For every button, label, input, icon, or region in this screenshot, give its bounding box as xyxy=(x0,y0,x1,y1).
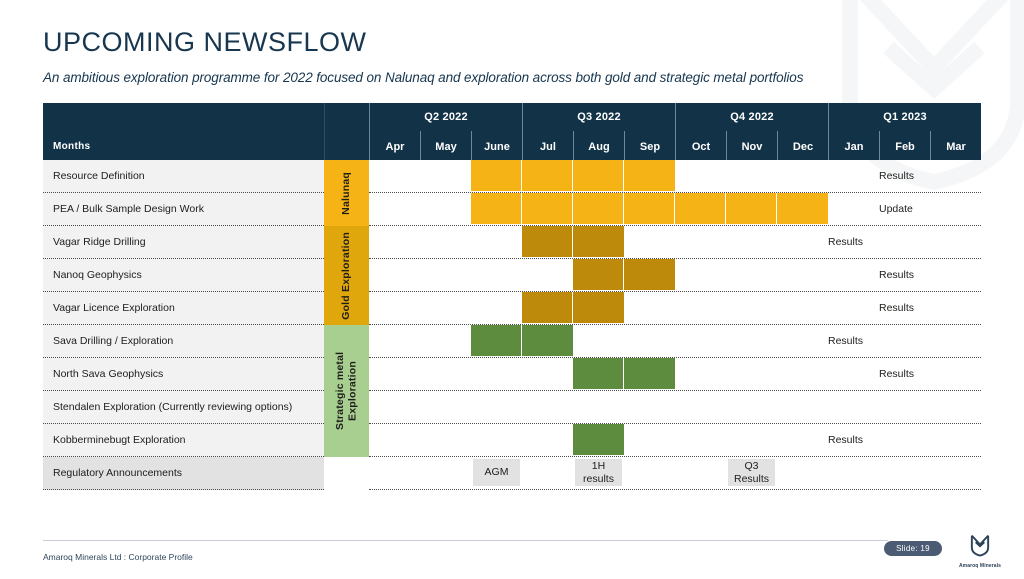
row-label: Vagar Licence Exploration xyxy=(43,292,324,325)
timeline-cell xyxy=(624,325,675,357)
row-timeline: Results xyxy=(369,424,981,457)
category-band: Strategic metal Exploration xyxy=(324,325,369,457)
slide-root: UPCOMING NEWSFLOW An ambitious explorati… xyxy=(0,0,1024,579)
month-header-cell: Aug xyxy=(573,131,624,160)
timeline-cell xyxy=(369,292,420,324)
table-row: Nanoq GeophysicsResults xyxy=(43,259,981,292)
timeline-cell xyxy=(777,160,828,192)
month-header-cell: Dec xyxy=(777,131,828,160)
timeline-cell xyxy=(777,391,828,423)
timeline-bar-segment xyxy=(573,160,624,191)
timeline-cell xyxy=(369,457,420,489)
row-timeline: Results xyxy=(369,292,981,325)
timeline-cell xyxy=(573,160,624,192)
footer-note: Amaroq Minerals Ltd : Corporate Profile xyxy=(43,552,193,562)
page-title: UPCOMING NEWSFLOW xyxy=(43,27,367,58)
timeline-cell xyxy=(420,292,471,324)
timeline-bar-segment xyxy=(471,160,522,191)
chip-line-2: Results xyxy=(734,473,769,485)
timeline-cell xyxy=(420,325,471,357)
timeline-bar-segment xyxy=(522,226,573,257)
timeline-cell: Results xyxy=(879,358,930,390)
timeline-cell xyxy=(930,292,981,324)
timeline-bar-segment xyxy=(624,193,675,224)
timeline-bar-segment xyxy=(573,424,624,455)
timeline-cell xyxy=(522,259,573,291)
timeline-cell xyxy=(726,391,777,423)
timeline-bar-segment xyxy=(522,160,573,191)
timeline-cell xyxy=(573,226,624,258)
timeline-cell xyxy=(828,292,879,324)
timeline-cell xyxy=(471,358,522,390)
timeline-bar-segment xyxy=(573,193,624,224)
timeline-cell xyxy=(930,226,981,258)
timeline-bar-segment xyxy=(522,193,573,224)
timeline-cell xyxy=(471,424,522,456)
row-label: Kobberminebugt Exploration xyxy=(43,424,324,457)
timeline-cell xyxy=(573,259,624,291)
slide-number-badge: Slide: 19 xyxy=(884,541,942,556)
timeline-cell: Results xyxy=(879,160,930,192)
table-row: Resource DefinitionResults xyxy=(43,160,981,193)
chip-line-1: AGM xyxy=(485,466,509,478)
timeline-bar-segment xyxy=(573,292,624,323)
timeline-cell xyxy=(420,358,471,390)
header-category-spacer xyxy=(324,103,369,160)
row-note: Results xyxy=(879,292,930,324)
category-band: Gold Exploration xyxy=(324,226,369,325)
timeline-cell xyxy=(624,391,675,423)
timeline-cell xyxy=(420,391,471,423)
timeline-cell xyxy=(930,457,981,489)
row-note: Results xyxy=(828,226,879,258)
timeline-cell xyxy=(930,325,981,357)
timeline-cell xyxy=(675,391,726,423)
table-row: Sava Drilling / ExplorationResults xyxy=(43,325,981,358)
month-header-cell: Feb xyxy=(879,131,930,160)
timeline-cell xyxy=(879,391,930,423)
quarter-group: Q3 2022JulAugSep xyxy=(522,103,675,160)
timeline-cell xyxy=(522,391,573,423)
category-band-label: Strategic metal Exploration xyxy=(334,325,359,457)
row-timeline: AGM1HresultsQ3Results xyxy=(369,457,981,490)
timeline-cell xyxy=(828,358,879,390)
timeline-cell xyxy=(675,160,726,192)
timeline-cell xyxy=(624,226,675,258)
timeline-cell xyxy=(777,292,828,324)
timeline-bar-segment xyxy=(522,292,573,323)
timeline-cell xyxy=(369,358,420,390)
timeline-cell xyxy=(573,358,624,390)
timeline-bar-segment xyxy=(675,193,726,224)
timeline-cell xyxy=(930,424,981,456)
timeline-cell: Q3Results xyxy=(726,457,777,489)
announcement-chip: Q3Results xyxy=(728,459,775,486)
timeline-cell xyxy=(675,193,726,225)
page-subtitle: An ambitious exploration programme for 2… xyxy=(43,70,803,85)
table-row: North Sava GeophysicsResults xyxy=(43,358,981,391)
timeline-cell xyxy=(369,193,420,225)
table-row: Stendalen Exploration (Currently reviewi… xyxy=(43,391,981,424)
timeline-cell xyxy=(420,226,471,258)
timeline-cell xyxy=(930,193,981,225)
month-header-cell: May xyxy=(420,131,471,160)
header-months-label: Months xyxy=(43,103,324,160)
timeline-cell xyxy=(675,358,726,390)
row-timeline: Results xyxy=(369,160,981,193)
timeline-cell xyxy=(369,424,420,456)
timeline-cell xyxy=(420,424,471,456)
timeline-cell xyxy=(675,325,726,357)
timeline-cell xyxy=(726,259,777,291)
timeline-cell: Results xyxy=(828,424,879,456)
timeline-cell xyxy=(726,424,777,456)
timeline-cell xyxy=(777,259,828,291)
quarter-group: Q2 2022AprMayJune xyxy=(369,103,522,160)
quarter-label: Q4 2022 xyxy=(676,103,828,131)
category-band-label: Gold Exploration xyxy=(340,232,353,320)
timeline-cell xyxy=(522,358,573,390)
timeline-cell xyxy=(777,424,828,456)
timeline-bar-segment xyxy=(522,325,573,356)
row-label: Nanoq Geophysics xyxy=(43,259,324,292)
timeline-bar-segment xyxy=(573,226,624,257)
timeline-cell: Results xyxy=(828,325,879,357)
row-note: Results xyxy=(828,424,879,456)
timeline-cell xyxy=(522,325,573,357)
row-note: Results xyxy=(879,358,930,390)
timeline-cell xyxy=(420,259,471,291)
timeline-cell xyxy=(522,193,573,225)
timeline-cell xyxy=(828,391,879,423)
table-row: Vagar Licence ExplorationResults xyxy=(43,292,981,325)
timeline-cell: Results xyxy=(828,226,879,258)
row-label: PEA / Bulk Sample Design Work xyxy=(43,193,324,226)
quarter-group: Q1 2023JanFebMar xyxy=(828,103,981,160)
header-quarters: Q2 2022AprMayJuneQ3 2022JulAugSepQ4 2022… xyxy=(369,103,981,160)
timeline-bar-segment xyxy=(624,358,675,389)
timeline-cell xyxy=(471,226,522,258)
timeline-cell xyxy=(624,292,675,324)
row-timeline xyxy=(369,391,981,424)
timeline-cell xyxy=(471,325,522,357)
timeline-cell xyxy=(777,193,828,225)
month-header-cell: June xyxy=(471,131,522,160)
timeline-cell xyxy=(828,457,879,489)
timeline-cell xyxy=(624,424,675,456)
timeline-cell xyxy=(675,259,726,291)
row-label: Stendalen Exploration (Currently reviewi… xyxy=(43,391,324,424)
timeline-cell xyxy=(726,358,777,390)
timeline-cell xyxy=(930,391,981,423)
table-header: Months Q2 2022AprMayJuneQ3 2022JulAugSep… xyxy=(43,103,981,160)
timeline-bar-segment xyxy=(471,325,522,356)
timeline-cell xyxy=(879,457,930,489)
timeline-cell xyxy=(624,160,675,192)
month-header-cell: Apr xyxy=(370,131,420,160)
timeline-cell xyxy=(777,358,828,390)
timeline-cell xyxy=(522,160,573,192)
timeline-cell xyxy=(471,160,522,192)
timeline-bar-segment xyxy=(471,193,522,224)
footer-divider xyxy=(43,540,888,541)
timeline-cell xyxy=(573,325,624,357)
announcement-chip: 1Hresults xyxy=(575,459,622,486)
announcement-chip: AGM xyxy=(473,459,520,486)
timeline-cell xyxy=(930,160,981,192)
timeline-cell: 1Hresults xyxy=(573,457,624,489)
timeline-cell xyxy=(726,160,777,192)
timeline-cell xyxy=(369,325,420,357)
category-band-label: Nalunaq xyxy=(340,172,353,215)
row-label: Vagar Ridge Drilling xyxy=(43,226,324,259)
table-row: Kobberminebugt ExplorationResults xyxy=(43,424,981,457)
timeline-bar-segment xyxy=(624,259,675,290)
quarter-months: AprMayJune xyxy=(370,131,522,160)
timeline-bar-segment xyxy=(573,358,624,389)
timeline-cell xyxy=(624,193,675,225)
timeline-cell xyxy=(573,424,624,456)
row-category-spacer xyxy=(324,457,369,490)
timeline-cell xyxy=(369,391,420,423)
chip-line-1: 1H xyxy=(592,460,605,472)
timeline-cell xyxy=(471,391,522,423)
timeline-cell xyxy=(471,259,522,291)
row-timeline: Results xyxy=(369,226,981,259)
timeline-cell xyxy=(675,292,726,324)
timeline-cell xyxy=(675,457,726,489)
timeline-bar-segment xyxy=(726,193,777,224)
footer-logo: Amaroq Minerals xyxy=(950,533,1010,569)
row-label: North Sava Geophysics xyxy=(43,358,324,391)
timeline-cell xyxy=(522,457,573,489)
table-row: Regulatory AnnouncementsAGM1HresultsQ3Re… xyxy=(43,457,981,490)
fox-logo-icon xyxy=(967,533,993,557)
quarter-months: JanFebMar xyxy=(829,131,981,160)
row-label: Sava Drilling / Exploration xyxy=(43,325,324,358)
quarter-label: Q3 2022 xyxy=(523,103,675,131)
timeline-cell xyxy=(777,325,828,357)
timeline-cell xyxy=(420,160,471,192)
row-timeline: Results xyxy=(369,259,981,292)
timeline-cell xyxy=(420,457,471,489)
chip-line-2: results xyxy=(583,473,614,485)
month-header-cell: Nov xyxy=(726,131,777,160)
timeline-cell xyxy=(522,226,573,258)
month-header-cell: Sep xyxy=(624,131,675,160)
month-header-cell: Oct xyxy=(676,131,726,160)
row-timeline: Results xyxy=(369,358,981,391)
timeline-cell xyxy=(828,160,879,192)
timeline-cell xyxy=(624,259,675,291)
row-label: Resource Definition xyxy=(43,160,324,193)
timeline-cell xyxy=(879,226,930,258)
row-note: Results xyxy=(879,259,930,291)
timeline-bar-segment xyxy=(624,160,675,191)
timeline-cell xyxy=(573,292,624,324)
timeline-cell xyxy=(573,193,624,225)
row-note: Results xyxy=(879,160,930,192)
footer-logo-name: Amaroq Minerals xyxy=(950,563,1010,569)
table-row: Vagar Ridge DrillingResults xyxy=(43,226,981,259)
timeline-bar-segment xyxy=(573,259,624,290)
timeline-cell xyxy=(675,424,726,456)
timeline-cell xyxy=(471,193,522,225)
quarter-label: Q1 2023 xyxy=(829,103,981,131)
timeline-cell xyxy=(828,259,879,291)
timeline-cell xyxy=(777,457,828,489)
timeline-cell xyxy=(879,424,930,456)
timeline-cell: Results xyxy=(879,259,930,291)
timeline-cell: Results xyxy=(879,292,930,324)
timeline-cell xyxy=(522,424,573,456)
timeline-cell xyxy=(726,325,777,357)
month-header-cell: Jan xyxy=(829,131,879,160)
timeline-cell: AGM xyxy=(471,457,522,489)
row-timeline: Results xyxy=(369,325,981,358)
quarter-label: Q2 2022 xyxy=(370,103,522,131)
row-note: Results xyxy=(828,325,879,357)
timeline-cell xyxy=(369,226,420,258)
timeline-cell xyxy=(573,391,624,423)
timeline-bar-segment xyxy=(777,193,828,224)
timeline-cell xyxy=(471,292,522,324)
timeline-cell xyxy=(624,358,675,390)
timeline-cell xyxy=(930,259,981,291)
timeline-cell: Update xyxy=(879,193,930,225)
quarter-months: OctNovDec xyxy=(676,131,828,160)
timeline-cell xyxy=(828,193,879,225)
month-header-cell: Mar xyxy=(930,131,981,160)
timeline-cell xyxy=(369,160,420,192)
timeline-cell xyxy=(726,193,777,225)
quarter-months: JulAugSep xyxy=(523,131,675,160)
timeline-cell xyxy=(369,259,420,291)
row-label: Regulatory Announcements xyxy=(43,457,324,490)
timeline-cell xyxy=(522,292,573,324)
row-note: Update xyxy=(879,193,930,225)
table-row: PEA / Bulk Sample Design WorkUpdate xyxy=(43,193,981,226)
quarter-group: Q4 2022OctNovDec xyxy=(675,103,828,160)
timeline-cell xyxy=(624,457,675,489)
timeline-cell xyxy=(879,325,930,357)
row-timeline: Update xyxy=(369,193,981,226)
month-header-cell: Jul xyxy=(523,131,573,160)
newsflow-table: Months Q2 2022AprMayJuneQ3 2022JulAugSep… xyxy=(43,103,981,490)
timeline-cell xyxy=(726,292,777,324)
chip-line-1: Q3 xyxy=(744,460,758,472)
timeline-cell xyxy=(675,226,726,258)
timeline-cell xyxy=(420,193,471,225)
category-band: Nalunaq xyxy=(324,160,369,226)
timeline-cell xyxy=(777,226,828,258)
table-body: Resource DefinitionResultsPEA / Bulk Sam… xyxy=(43,160,981,490)
timeline-cell xyxy=(726,226,777,258)
timeline-cell xyxy=(930,358,981,390)
